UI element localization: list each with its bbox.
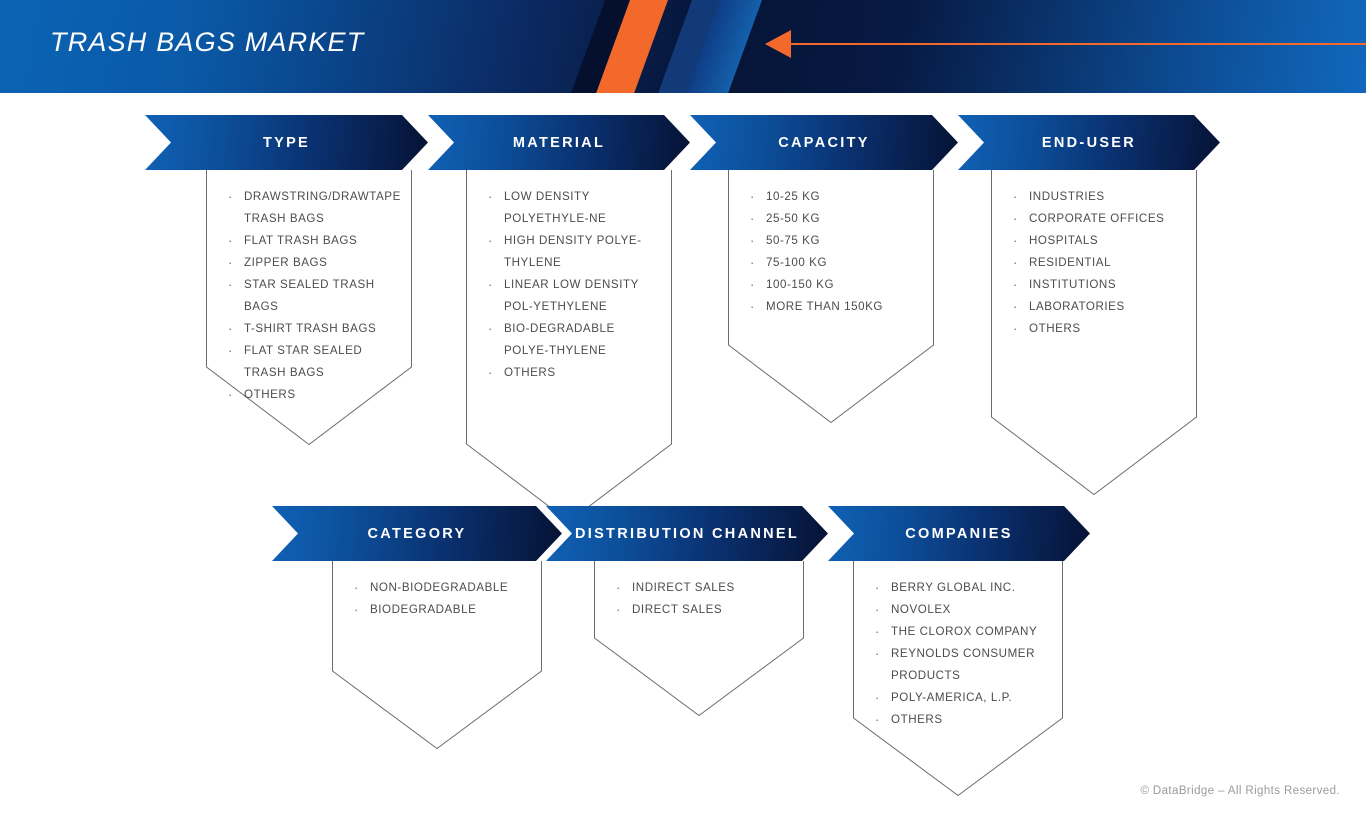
segment-item-list: ·INDUSTRIES·CORPORATE OFFICES·HOSPITALS·… xyxy=(991,170,1197,340)
list-item-label: CORPORATE OFFICES xyxy=(1029,208,1183,230)
segment-item-list: ·NON-BIODEGRADABLE·BIODEGRADABLE xyxy=(332,561,542,621)
list-item: ·DIRECT SALES xyxy=(616,599,790,621)
segment-banner-title: CATEGORY xyxy=(368,526,467,542)
bullet-icon: · xyxy=(750,252,766,274)
segment-banner-title: CAPACITY xyxy=(778,135,869,151)
list-item: ·OTHERS xyxy=(1013,318,1183,340)
segment-item-list: ·10-25 KG·25-50 KG·50-75 KG·75-100 KG·10… xyxy=(728,170,934,318)
segment-banner[interactable]: DISTRIBUTION CHANNEL xyxy=(546,506,828,561)
list-item: ·STAR SEALED TRASH BAGS xyxy=(228,274,398,318)
bullet-icon: · xyxy=(875,599,891,621)
list-item-label: STAR SEALED TRASH BAGS xyxy=(244,274,398,318)
segment-banner[interactable]: COMPANIES xyxy=(828,506,1090,561)
bullet-icon: · xyxy=(1013,274,1029,296)
list-item-label: 10-25 KG xyxy=(766,186,920,208)
list-item: ·POLY-AMERICA, L.P. xyxy=(875,687,1049,709)
bullet-icon: · xyxy=(354,577,370,599)
segment-banner-shape: CATEGORY xyxy=(272,506,562,561)
list-item: ·HOSPITALS xyxy=(1013,230,1183,252)
list-item-label: RESIDENTIAL xyxy=(1029,252,1183,274)
list-item: ·CORPORATE OFFICES xyxy=(1013,208,1183,230)
segment-banner-title: END-USER xyxy=(1042,135,1136,151)
list-item-label: THE CLOROX COMPANY xyxy=(891,621,1049,643)
list-item: ·NON-BIODEGRADABLE xyxy=(354,577,528,599)
segment-banner[interactable]: CATEGORY xyxy=(272,506,562,561)
list-item-label: T-SHIRT TRASH BAGS xyxy=(244,318,398,340)
segment-card: ·INDUSTRIES·CORPORATE OFFICES·HOSPITALS·… xyxy=(991,170,1197,495)
list-item-label: LOW DENSITY POLYETHYLE-NE xyxy=(504,186,658,230)
segment-card: ·NON-BIODEGRADABLE·BIODEGRADABLE xyxy=(332,561,542,749)
list-item-label: BIODEGRADABLE xyxy=(370,599,528,621)
segment-banner-shape: MATERIAL xyxy=(428,115,690,170)
segment-card: ·INDIRECT SALES·DIRECT SALES xyxy=(594,561,804,716)
list-item: ·FLAT STAR SEALED TRASH BAGS xyxy=(228,340,398,384)
segment-banner[interactable]: CAPACITY xyxy=(690,115,958,170)
bullet-icon: · xyxy=(228,318,244,340)
list-item-label: 50-75 KG xyxy=(766,230,920,252)
list-item: ·RESIDENTIAL xyxy=(1013,252,1183,274)
list-item: ·50-75 KG xyxy=(750,230,920,252)
list-item: ·ZIPPER BAGS xyxy=(228,252,398,274)
list-item-label: OTHERS xyxy=(1029,318,1183,340)
segment-banner-shape: END-USER xyxy=(958,115,1220,170)
list-item: ·BIO-DEGRADABLE POLYE-THYLENE xyxy=(488,318,658,362)
list-item-label: INSTITUTIONS xyxy=(1029,274,1183,296)
bullet-icon: · xyxy=(488,230,504,274)
segment-banner-shape: CAPACITY xyxy=(690,115,958,170)
bullet-icon: · xyxy=(228,252,244,274)
bullet-icon: · xyxy=(228,340,244,384)
bullet-icon: · xyxy=(228,186,244,230)
page-header: TRASH BAGS MARKET xyxy=(0,0,1366,93)
list-item: ·BIODEGRADABLE xyxy=(354,599,528,621)
list-item-label: INDUSTRIES xyxy=(1029,186,1183,208)
segment-banner-shape: TYPE xyxy=(145,115,428,170)
bullet-icon: · xyxy=(1013,186,1029,208)
segment-banner-shape: COMPANIES xyxy=(828,506,1090,561)
list-item: ·LINEAR LOW DENSITY POL-YETHYLENE xyxy=(488,274,658,318)
bullet-icon: · xyxy=(488,274,504,318)
list-item: ·INDIRECT SALES xyxy=(616,577,790,599)
bullet-icon: · xyxy=(488,186,504,230)
segment-banner-title: MATERIAL xyxy=(513,135,605,151)
list-item: ·HIGH DENSITY POLYE-THYLENE xyxy=(488,230,658,274)
list-item-label: NOVOLEX xyxy=(891,599,1049,621)
list-item-label: ZIPPER BAGS xyxy=(244,252,398,274)
segment-card: ·DRAWSTRING/DRAWTAPE TRASH BAGS·FLAT TRA… xyxy=(206,170,412,445)
segment-banner-shape: DISTRIBUTION CHANNEL xyxy=(546,506,828,561)
list-item-label: MORE THAN 150KG xyxy=(766,296,920,318)
segment-card: ·LOW DENSITY POLYETHYLE-NE·HIGH DENSITY … xyxy=(466,170,672,522)
list-item: ·BERRY GLOBAL INC. xyxy=(875,577,1049,599)
list-item: ·FLAT TRASH BAGS xyxy=(228,230,398,252)
bullet-icon: · xyxy=(228,230,244,252)
list-item-label: INDIRECT SALES xyxy=(632,577,790,599)
list-item-label: OTHERS xyxy=(504,362,658,384)
bullet-icon: · xyxy=(1013,296,1029,318)
bullet-icon: · xyxy=(750,274,766,296)
list-item: ·MORE THAN 150KG xyxy=(750,296,920,318)
bullet-icon: · xyxy=(875,687,891,709)
list-item-label: HIGH DENSITY POLYE-THYLENE xyxy=(504,230,658,274)
bullet-icon: · xyxy=(875,621,891,643)
bullet-icon: · xyxy=(488,318,504,362)
bullet-icon: · xyxy=(1013,252,1029,274)
list-item: ·10-25 KG xyxy=(750,186,920,208)
list-item: ·NOVOLEX xyxy=(875,599,1049,621)
list-item-label: BIO-DEGRADABLE POLYE-THYLENE xyxy=(504,318,658,362)
bullet-icon: · xyxy=(750,230,766,252)
list-item-label: OTHERS xyxy=(244,384,398,406)
bullet-icon: · xyxy=(354,599,370,621)
list-item-label: 75-100 KG xyxy=(766,252,920,274)
segment-banner-title: COMPANIES xyxy=(905,526,1012,542)
segment-banner-title: TYPE xyxy=(263,135,310,151)
header-accent-line xyxy=(790,43,1366,45)
segment-card: ·10-25 KG·25-50 KG·50-75 KG·75-100 KG·10… xyxy=(728,170,934,423)
bullet-icon: · xyxy=(875,709,891,731)
list-item-label: HOSPITALS xyxy=(1029,230,1183,252)
segment-banner[interactable]: TYPE xyxy=(145,115,428,170)
list-item-label: 25-50 KG xyxy=(766,208,920,230)
list-item: ·INDUSTRIES xyxy=(1013,186,1183,208)
bullet-icon: · xyxy=(1013,208,1029,230)
list-item: ·75-100 KG xyxy=(750,252,920,274)
segment-item-list: ·LOW DENSITY POLYETHYLE-NE·HIGH DENSITY … xyxy=(466,170,672,384)
segment-banner[interactable]: END-USER xyxy=(958,115,1220,170)
bullet-icon: · xyxy=(228,274,244,318)
list-item-label: DIRECT SALES xyxy=(632,599,790,621)
list-item: ·LABORATORIES xyxy=(1013,296,1183,318)
bullet-icon: · xyxy=(875,577,891,599)
left-arrow-icon xyxy=(765,30,791,58)
list-item: ·LOW DENSITY POLYETHYLE-NE xyxy=(488,186,658,230)
bullet-icon: · xyxy=(750,296,766,318)
list-item-label: LINEAR LOW DENSITY POL-YETHYLENE xyxy=(504,274,658,318)
bullet-icon: · xyxy=(488,362,504,384)
list-item-label: FLAT TRASH BAGS xyxy=(244,230,398,252)
list-item: ·25-50 KG xyxy=(750,208,920,230)
list-item: ·OTHERS xyxy=(228,384,398,406)
bullet-icon: · xyxy=(616,599,632,621)
segment-card: ·BERRY GLOBAL INC.·NOVOLEX·THE CLOROX CO… xyxy=(853,561,1063,796)
list-item: ·T-SHIRT TRASH BAGS xyxy=(228,318,398,340)
list-item: ·REYNOLDS CONSUMER PRODUCTS xyxy=(875,643,1049,687)
list-item-label: BERRY GLOBAL INC. xyxy=(891,577,1049,599)
segment-banner-title: DISTRIBUTION CHANNEL xyxy=(575,526,799,542)
bullet-icon: · xyxy=(1013,318,1029,340)
bullet-icon: · xyxy=(1013,230,1029,252)
segment-item-list: ·BERRY GLOBAL INC.·NOVOLEX·THE CLOROX CO… xyxy=(853,561,1063,731)
bullet-icon: · xyxy=(875,643,891,687)
list-item: ·OTHERS xyxy=(875,709,1049,731)
list-item-label: NON-BIODEGRADABLE xyxy=(370,577,528,599)
list-item-label: FLAT STAR SEALED TRASH BAGS xyxy=(244,340,398,384)
segment-item-list: ·INDIRECT SALES·DIRECT SALES xyxy=(594,561,804,621)
segment-item-list: ·DRAWSTRING/DRAWTAPE TRASH BAGS·FLAT TRA… xyxy=(206,170,412,406)
bullet-icon: · xyxy=(750,186,766,208)
list-item: ·OTHERS xyxy=(488,362,658,384)
page-title: TRASH BAGS MARKET xyxy=(50,27,364,58)
bullet-icon: · xyxy=(228,384,244,406)
list-item: ·DRAWSTRING/DRAWTAPE TRASH BAGS xyxy=(228,186,398,230)
list-item-label: DRAWSTRING/DRAWTAPE TRASH BAGS xyxy=(244,186,401,230)
list-item-label: POLY-AMERICA, L.P. xyxy=(891,687,1049,709)
bullet-icon: · xyxy=(750,208,766,230)
bullet-icon: · xyxy=(616,577,632,599)
list-item-label: OTHERS xyxy=(891,709,1049,731)
list-item-label: 100-150 KG xyxy=(766,274,920,296)
footer-copyright: © DataBridge – All Rights Reserved. xyxy=(1140,785,1340,797)
segment-banner[interactable]: MATERIAL xyxy=(428,115,690,170)
list-item: ·100-150 KG xyxy=(750,274,920,296)
list-item-label: LABORATORIES xyxy=(1029,296,1183,318)
list-item: ·INSTITUTIONS xyxy=(1013,274,1183,296)
list-item-label: REYNOLDS CONSUMER PRODUCTS xyxy=(891,643,1049,687)
list-item: ·THE CLOROX COMPANY xyxy=(875,621,1049,643)
